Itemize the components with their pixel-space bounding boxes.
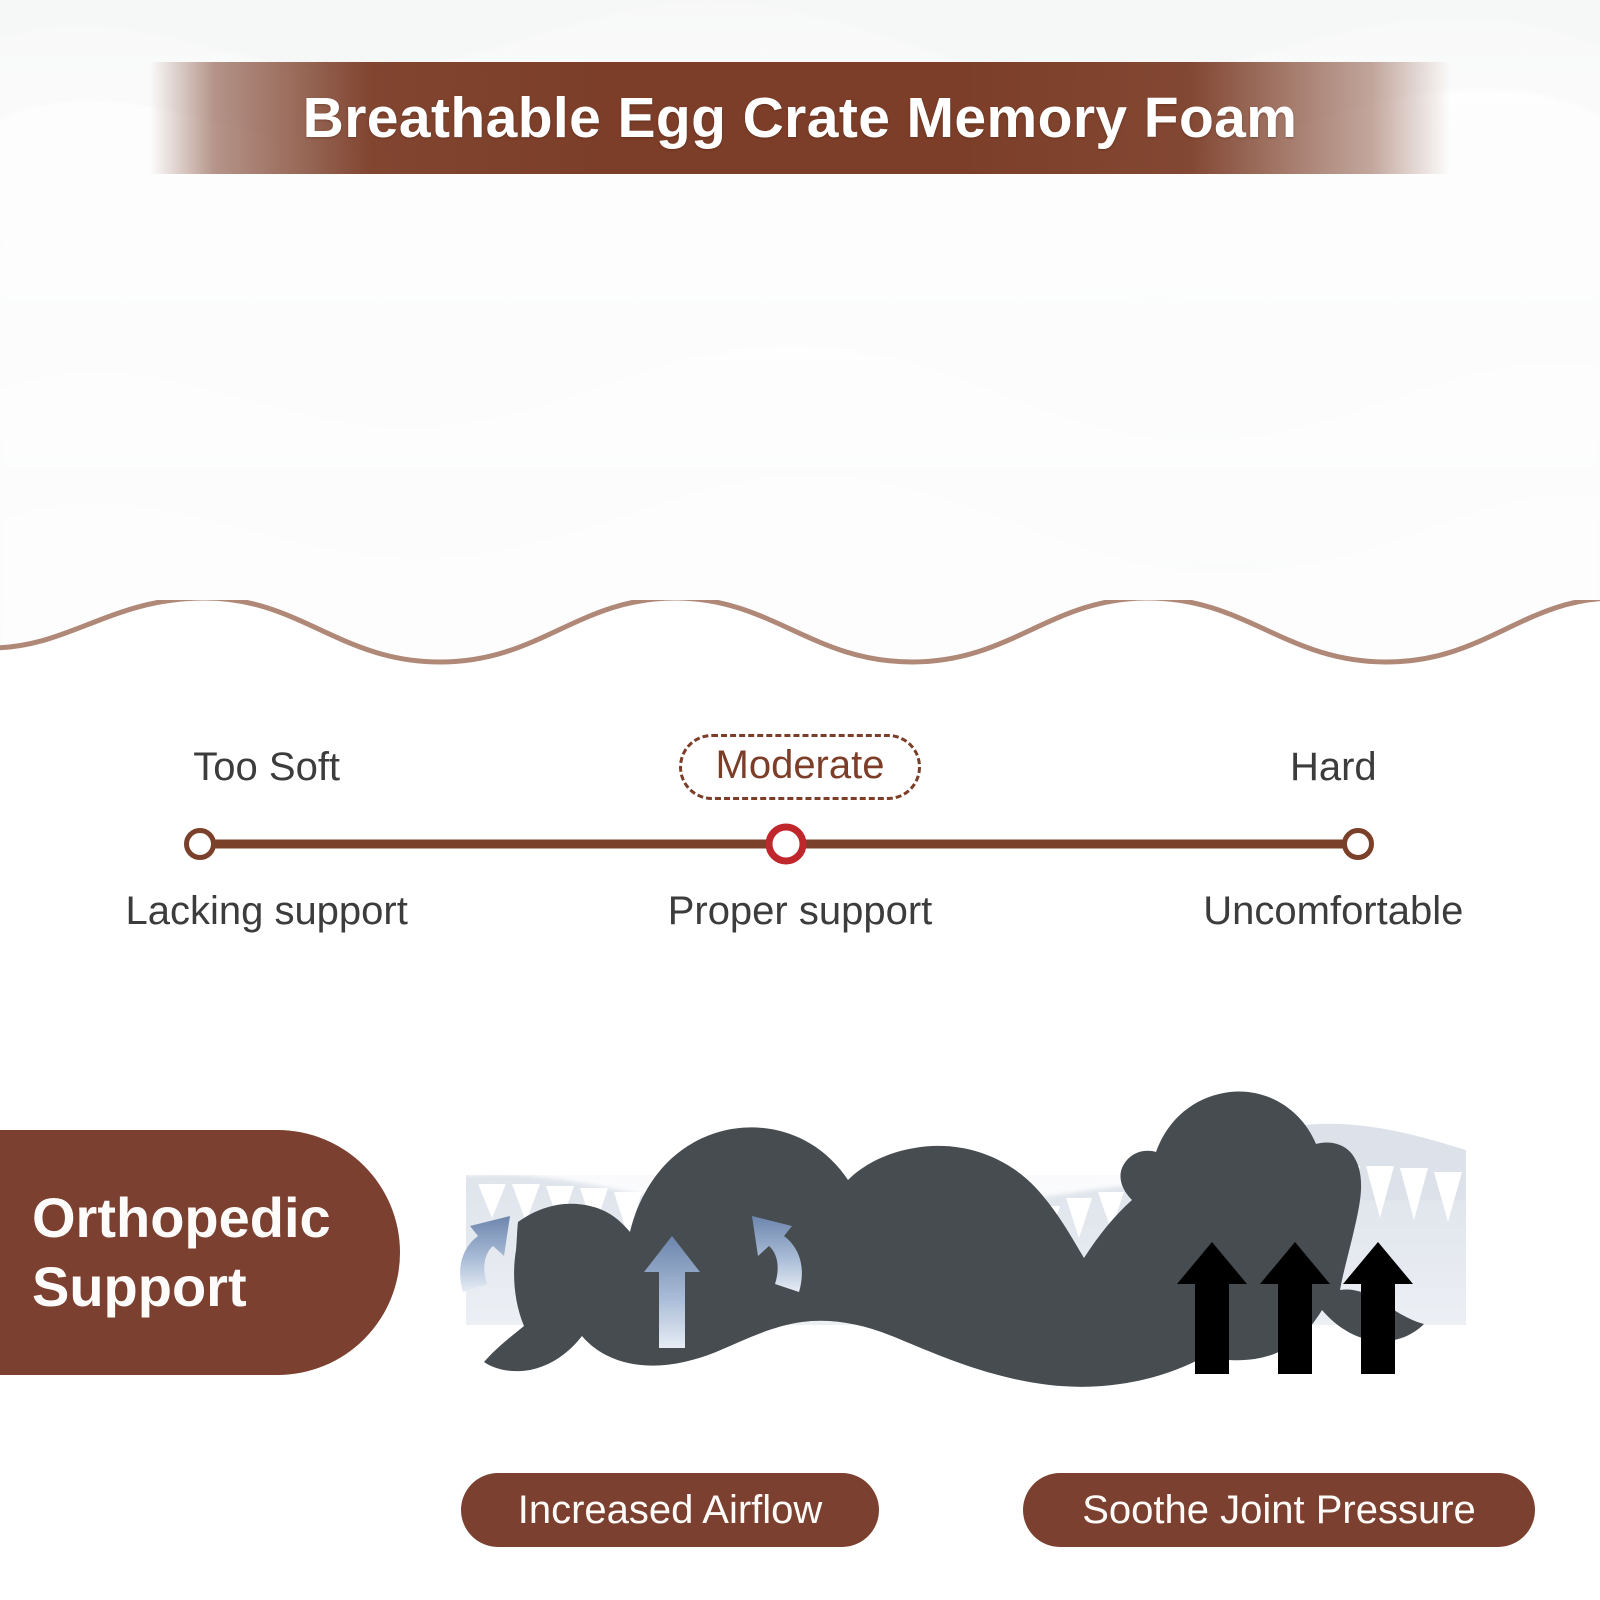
scale-track[interactable] — [0, 814, 1600, 874]
scale-sublabel-proper-support: Proper support — [668, 889, 933, 934]
feature-pill-soothe-joint-pressure[interactable]: Soothe Joint Pressure — [1023, 1473, 1535, 1547]
scale-point-moderate-bottom: Proper support — [533, 876, 1066, 946]
orthopedic-support-badge: Orthopedic Support — [0, 1130, 400, 1375]
page-title: Breathable Egg Crate Memory Foam — [303, 85, 1298, 151]
scale-point-too-soft-top: Too Soft — [0, 732, 533, 802]
scale-sublabel-lacking-support: Lacking support — [125, 889, 407, 934]
firmness-scale: Too Soft Moderate Hard Lacking support P — [0, 718, 1600, 968]
scale-label-hard: Hard — [1290, 745, 1377, 790]
scale-bottom-labels: Lacking support Proper support Uncomfort… — [0, 876, 1600, 946]
pressure-arrows — [1177, 1242, 1413, 1374]
badge-moderate[interactable]: Moderate — [679, 734, 922, 800]
title-banner: Breathable Egg Crate Memory Foam — [150, 62, 1450, 174]
scale-point-hard-bottom: Uncomfortable — [1067, 876, 1600, 946]
scale-point-too-soft-bottom: Lacking support — [0, 876, 533, 946]
orthopedic-badge-line2: Support — [32, 1253, 400, 1321]
product-infographic: Breathable Egg Crate Memory Foam Too Sof… — [0, 0, 1600, 1600]
scale-point-hard-top: Hard — [1067, 732, 1600, 802]
scale-sublabel-uncomfortable: Uncomfortable — [1203, 889, 1463, 934]
scale-top-labels: Too Soft Moderate Hard — [0, 732, 1600, 802]
feature-pill-increased-airflow[interactable]: Increased Airflow — [461, 1473, 879, 1547]
scale-point-moderate-top: Moderate — [533, 732, 1066, 802]
scale-label-too-soft: Too Soft — [193, 745, 340, 790]
orthopedic-badge-line1: Orthopedic — [32, 1184, 400, 1252]
